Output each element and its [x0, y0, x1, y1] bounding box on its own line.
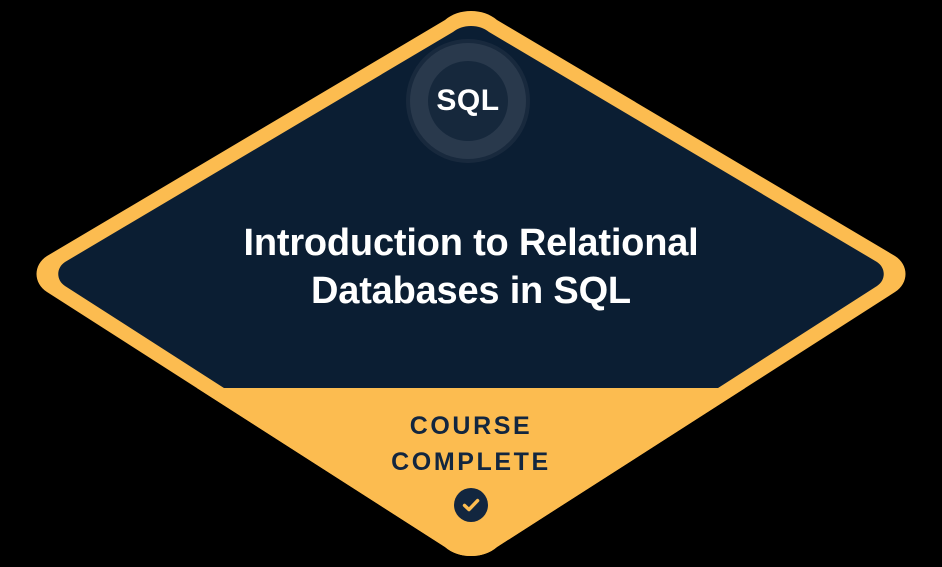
course-status-line-1: COURSE	[171, 408, 771, 444]
check-circle-icon	[454, 488, 488, 522]
course-title-line-2: Databases in SQL	[121, 267, 821, 315]
course-status: COURSE COMPLETE	[171, 408, 771, 522]
sql-emblem-label: SQL	[436, 86, 499, 116]
course-completion-badge: SQL Introduction to Relational Databases…	[0, 0, 942, 567]
sql-emblem: SQL	[411, 44, 525, 158]
course-title: Introduction to Relational Databases in …	[121, 219, 821, 315]
course-title-line-1: Introduction to Relational	[121, 219, 821, 267]
course-status-line-2: COMPLETE	[171, 444, 771, 480]
